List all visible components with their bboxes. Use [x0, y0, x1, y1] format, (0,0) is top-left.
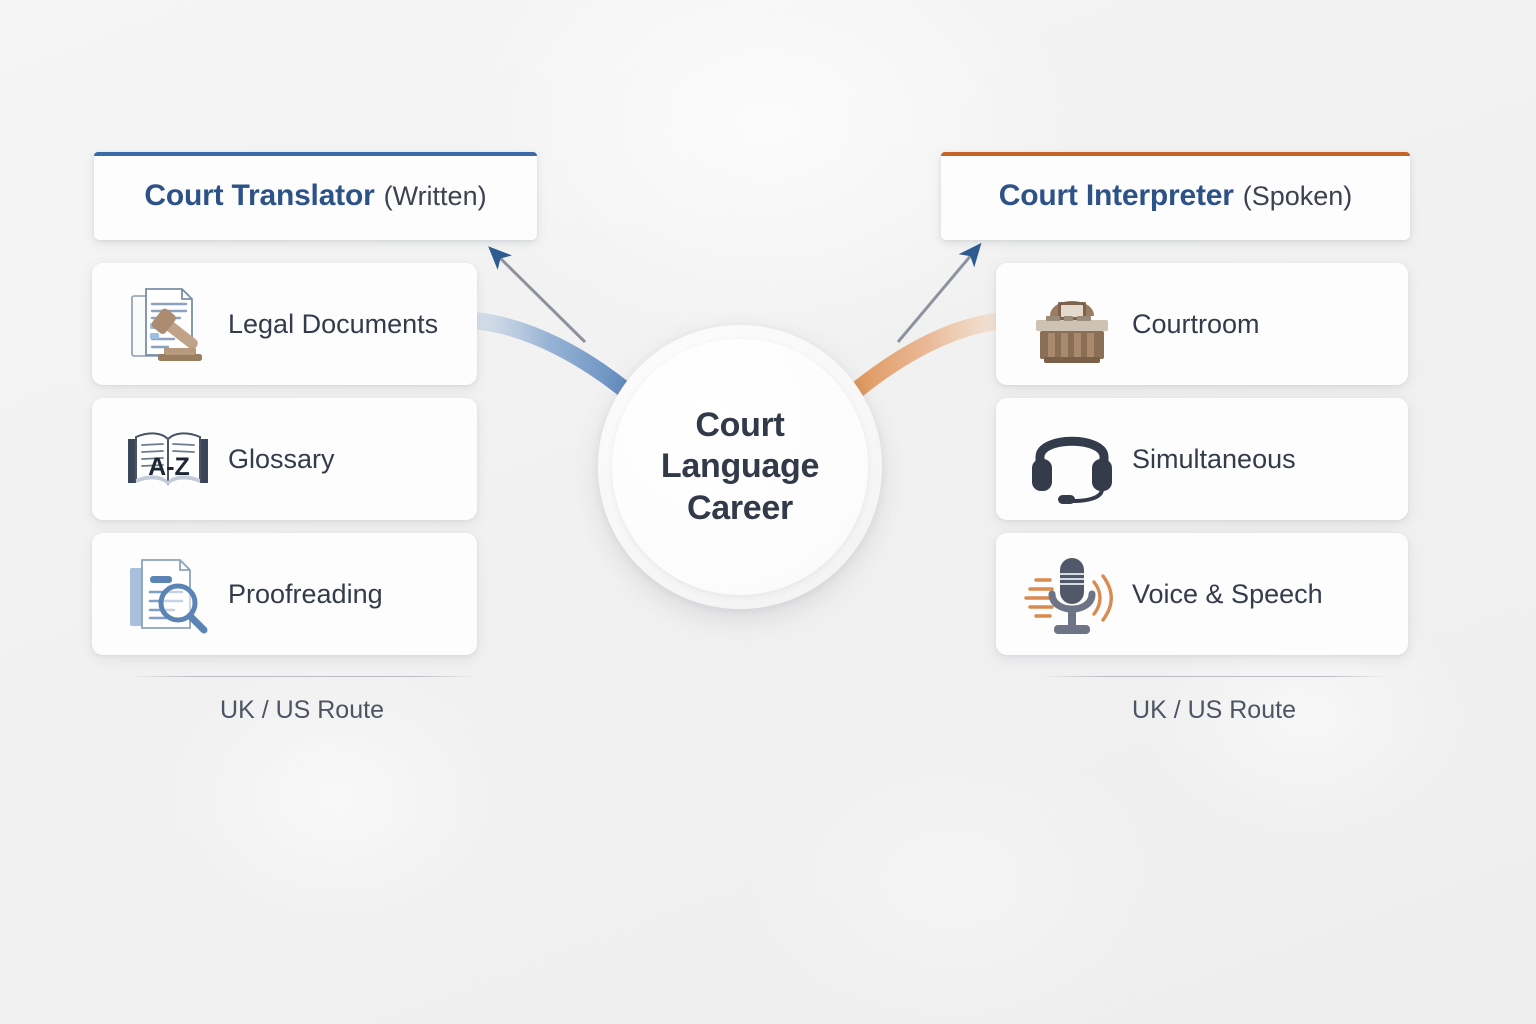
divider-left	[128, 676, 476, 677]
item-card-courtroom[interactable]: Courtroom	[996, 263, 1408, 385]
center-node-label: Court Language Career	[661, 405, 819, 529]
item-label: Courtroom	[1132, 309, 1260, 340]
document-magnifier-icon	[116, 542, 220, 646]
arrow-to-header-right	[898, 247, 978, 342]
center-line-2: Language	[661, 446, 819, 487]
microphone-soundwave-icon	[1020, 542, 1124, 646]
route-label-left: UK / US Route	[128, 696, 476, 725]
center-line-1: Court	[661, 405, 819, 446]
header-subtitle-left: (Written)	[384, 181, 487, 212]
item-card-glossary[interactable]: A-Z Glossary	[92, 398, 477, 520]
item-card-proofreading[interactable]: Proofreading	[92, 533, 477, 655]
item-card-voice-and-speech[interactable]: Voice & Speech	[996, 533, 1408, 655]
header-subtitle-right: (Spoken)	[1243, 181, 1353, 212]
open-book-a-z-icon: A-Z	[116, 407, 220, 511]
divider-right	[1040, 676, 1388, 677]
arrow-to-header-left	[492, 250, 585, 342]
connector-curve-right	[846, 321, 1000, 399]
item-card-simultaneous[interactable]: Simultaneous	[996, 398, 1408, 520]
branch-header-court-interpreter[interactable]: Court Interpreter (Spoken)	[941, 152, 1410, 240]
route-footer-right: UK / US Route	[1040, 676, 1388, 725]
accent-bar-left	[94, 152, 537, 156]
courthouse-bench-icon	[1020, 272, 1124, 376]
header-title-left: Court Translator	[144, 179, 374, 213]
legal-documents-gavel-icon	[116, 272, 220, 376]
glossary-icon-text: A-Z	[148, 453, 190, 481]
headset-icon	[1020, 407, 1124, 511]
connector-curve-left	[478, 321, 636, 399]
header-title-right: Court Interpreter	[999, 179, 1234, 213]
item-label: Legal Documents	[228, 309, 438, 340]
branch-header-court-translator[interactable]: Court Translator (Written)	[94, 152, 537, 240]
accent-bar-right	[941, 152, 1410, 156]
center-node-court-language-career[interactable]: Court Language Career	[598, 325, 882, 609]
center-line-3: Career	[661, 488, 819, 529]
route-footer-left: UK / US Route	[128, 676, 476, 725]
item-label: Glossary	[228, 444, 335, 475]
route-label-right: UK / US Route	[1040, 696, 1388, 725]
item-label: Simultaneous	[1132, 444, 1296, 475]
diagram-canvas: Court Translator (Written) Court Interpr…	[0, 0, 1536, 1024]
item-label: Proofreading	[228, 579, 383, 610]
item-label: Voice & Speech	[1132, 579, 1323, 610]
item-card-legal-documents[interactable]: Legal Documents	[92, 263, 477, 385]
